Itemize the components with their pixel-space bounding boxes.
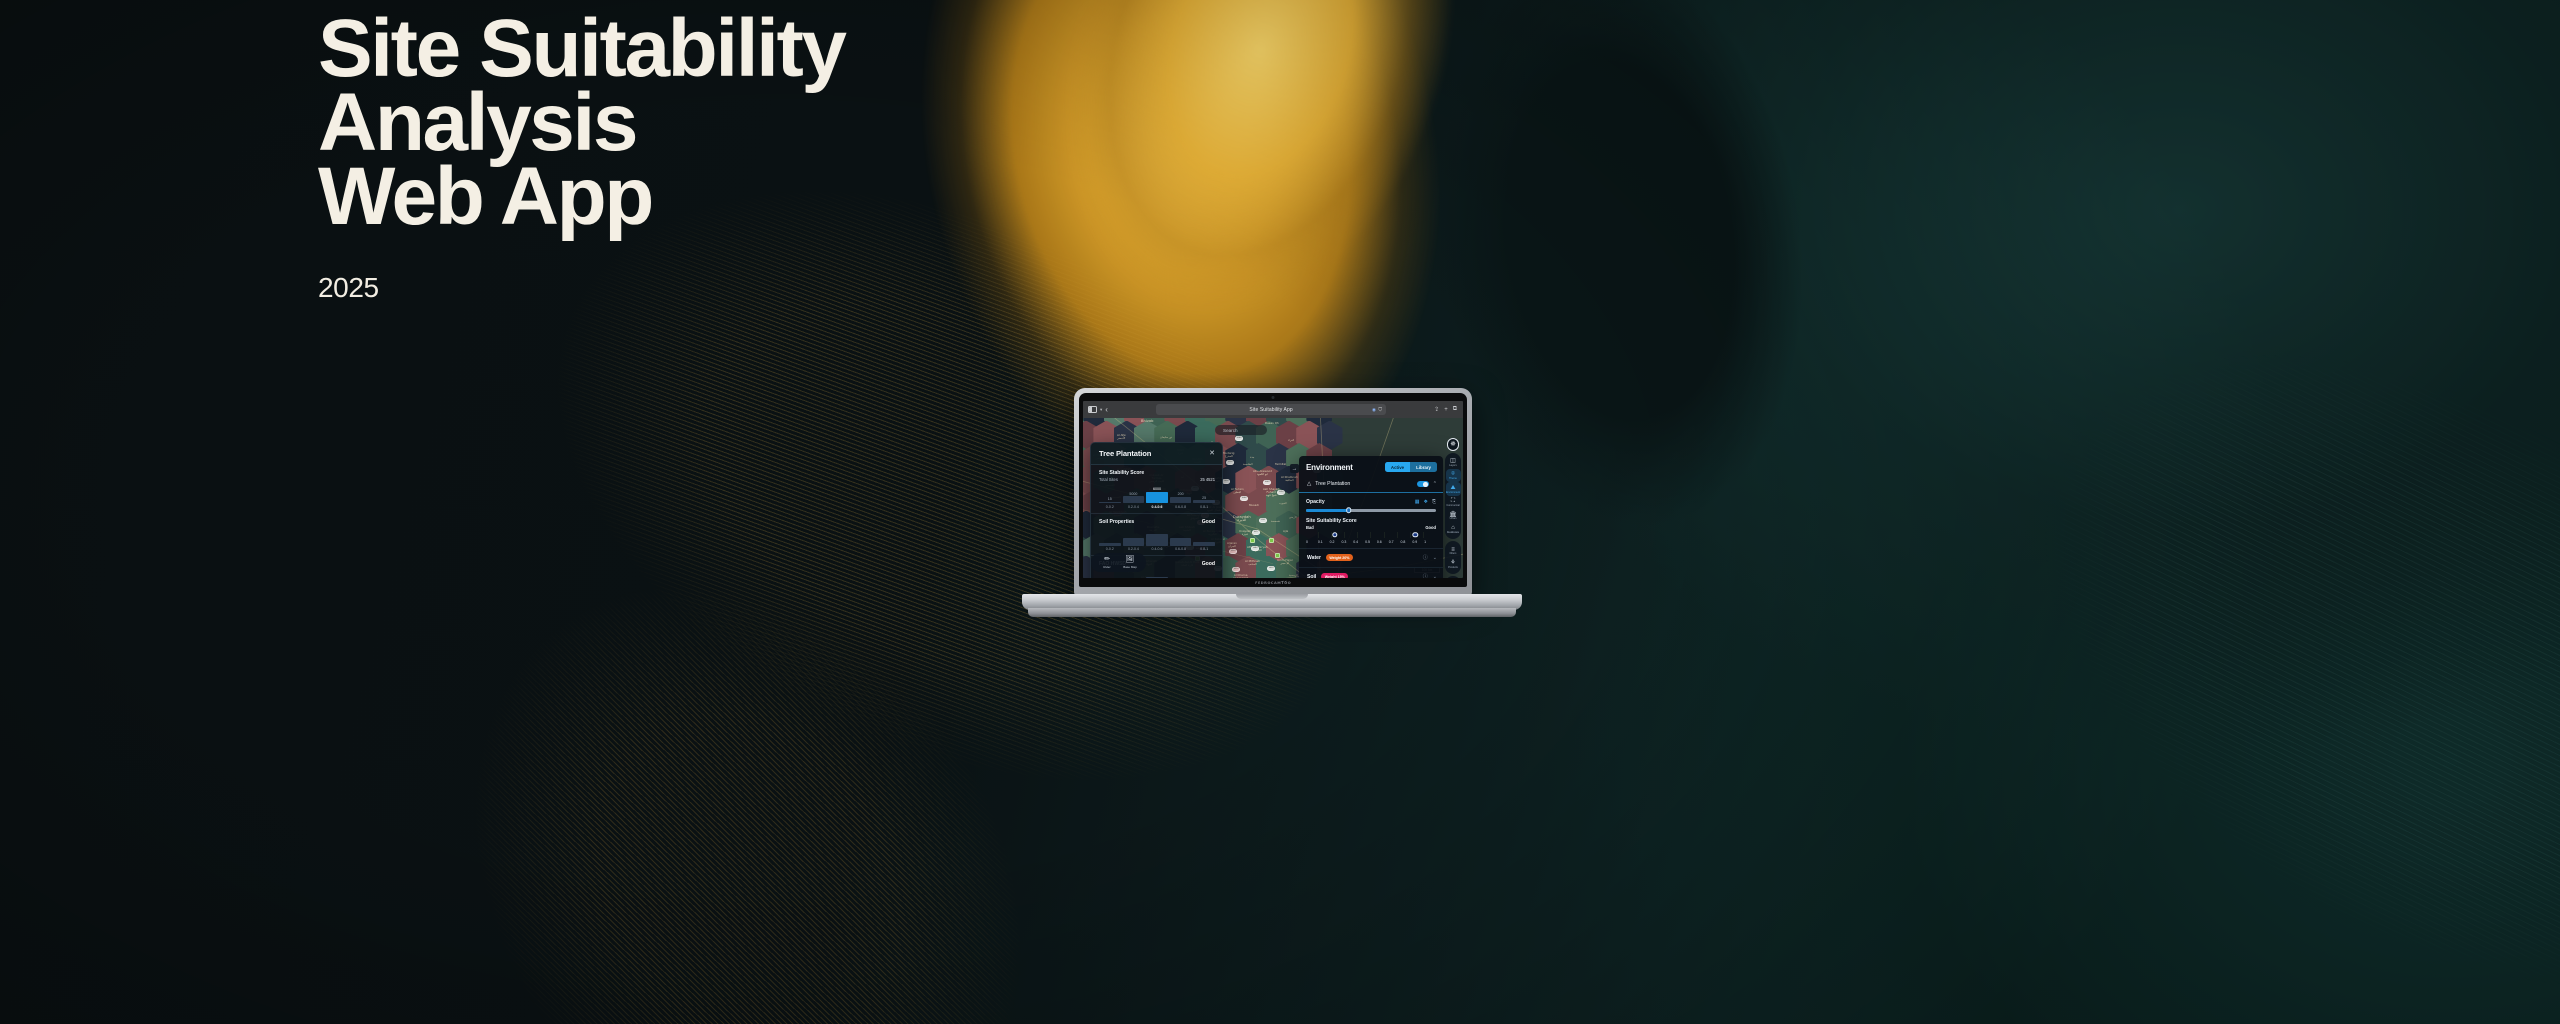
panel-header: Tree Plantation ✕ [1091, 443, 1222, 465]
map-value-pin[interactable]: 1045 [1263, 480, 1271, 485]
rail-item-environment[interactable]: ⛰Environment [1446, 482, 1461, 495]
browser-toolbar: ▾ ‹ Site Suitability App ◉ ⛉ ⇪ + ⧉ [1083, 401, 1463, 418]
layer-name: Tree Plantation [1315, 481, 1413, 487]
histogram-tick-label: 0.4-0.6 [1146, 505, 1168, 509]
histogram-ticks: 0-0.20.2-0.40.4-0.60.6-0.80.8-1 [1099, 505, 1215, 509]
browser-actions-group: ⇪ + ⧉ [1434, 406, 1458, 413]
chevron-down-icon[interactable]: ⌄ [1433, 555, 1437, 561]
rail-item-urban[interactable]: 🏛Urban [1446, 509, 1461, 522]
layer-controls: Opacity ▦ ❖ ⎘ Site [1299, 493, 1443, 548]
histogram-bar [1193, 500, 1215, 503]
histogram-column[interactable] [1193, 528, 1215, 546]
gradient-tick-label: 0.2 [1330, 540, 1342, 544]
layer-visibility-toggle[interactable] [1417, 481, 1429, 487]
histogram-column[interactable] [1170, 528, 1192, 546]
ruler-icon: ✏ [1104, 556, 1110, 564]
address-bar-icons: ◉ ⛉ [1372, 407, 1382, 413]
rail-item-label: Products [1448, 567, 1458, 570]
rail-item-products[interactable]: ⚘Products [1446, 558, 1461, 571]
section-name: Site Stability Score [1099, 470, 1144, 476]
gradient-tick-label: 0.1 [1318, 540, 1330, 544]
reader-mode-icon[interactable]: ◉ [1372, 407, 1376, 413]
rail-item-realestate[interactable]: ⌂RealEstate [1446, 523, 1461, 536]
map-value-pin[interactable] [1250, 538, 1255, 543]
histogram-bar [1170, 538, 1192, 545]
chart-icon[interactable]: ▦ [1415, 499, 1420, 505]
shield-icon[interactable]: ⛉ [1378, 407, 1382, 413]
gradient-tick-label: 0.5 [1365, 540, 1377, 544]
map-value-pin[interactable]: 1228 [1226, 460, 1234, 465]
section-subrow: Total Sites25 4521 [1099, 477, 1215, 482]
address-bar-title: Site Suitability App [1249, 407, 1292, 413]
tab-library[interactable]: Library [1410, 462, 1437, 472]
map-search-placeholder: Search [1223, 428, 1238, 433]
criteria-name: Water [1307, 555, 1321, 561]
criteria-row-water[interactable]: WaterWeight 20%ⓘ⌄ [1299, 549, 1443, 568]
gradient-tick-label: 0 [1306, 540, 1318, 544]
gradient-tick-label: 0.3 [1341, 540, 1353, 544]
new-tab-icon[interactable]: + [1444, 407, 1448, 413]
rail-item-layers[interactable]: ◫Layers [1446, 456, 1461, 469]
rail-item-label: Filters [1450, 553, 1457, 556]
histogram-value: 200 [1178, 492, 1184, 496]
histogram-tick-label: 0.6-0.8 [1170, 547, 1192, 551]
histogram-value: 5000 [1129, 492, 1137, 496]
gradient-tick-label: 1 [1424, 540, 1436, 544]
gradient-tick-label: 0.9 [1412, 540, 1424, 544]
section-name: Soil Properties [1099, 519, 1134, 525]
close-icon[interactable]: ✕ [1209, 450, 1215, 457]
panel-title: Tree Plantation [1099, 449, 1151, 458]
map-search-input[interactable]: Search [1215, 425, 1267, 435]
suitability-bad-label: Bad [1306, 525, 1314, 530]
map-value-pin[interactable] [1275, 553, 1280, 558]
histogram-column[interactable] [1123, 528, 1145, 546]
criteria-row-soil[interactable]: SoilWeight 15%ⓘ⌄ [1299, 568, 1443, 578]
histogram-bar [1193, 542, 1215, 546]
rail-group: ≡Filters⚘Products [1445, 541, 1461, 574]
histogram-ticks: 0-0.20.2-0.40.4-0.60.6-0.80.8-1 [1099, 547, 1215, 551]
info-icon[interactable]: ⓘ [1423, 573, 1428, 578]
map-canvas[interactable]: BhivabDasan QhAl Afwالأخضرنور سليمانالغر… [1083, 418, 1463, 578]
section-verdict: Good [1202, 561, 1215, 567]
rail-item-label: Environment [1446, 492, 1460, 495]
histogram-column[interactable]: 6000 [1146, 485, 1168, 503]
map-value-pin[interactable]: 1415 [1267, 566, 1275, 571]
rail-item-filters[interactable]: ≡Filters [1446, 544, 1461, 557]
gradient-tick-label: 0.4 [1353, 540, 1365, 544]
suitability-end-labels: Bad Good [1306, 525, 1436, 530]
gradient-tick-label: 0.8 [1401, 540, 1413, 544]
total-sites-value: 25 4521 [1200, 477, 1215, 482]
histogram-column[interactable]: 15 [1099, 485, 1121, 503]
tool-basemap-label: Base Map [1123, 565, 1137, 569]
info-icon[interactable]: ⓘ [1423, 554, 1428, 561]
tab-active[interactable]: Active [1385, 462, 1410, 472]
histogram-value: 25 [1202, 496, 1206, 500]
gradient-tick-label: 0.7 [1389, 540, 1401, 544]
section-verdict: Good [1202, 519, 1215, 525]
map-tools-bar[interactable]: ✏ Ruler 🖼 Base Map [1091, 553, 1146, 573]
histogram-bar [1146, 577, 1168, 578]
histogram-column[interactable] [1146, 570, 1168, 578]
map-value-pin[interactable]: 4285 [1235, 436, 1243, 441]
laptop-mockup: ꜰᴇᴅʀᴏᴄᴀᴍᴛ᷄ᴏ᷄ᴏ ▾ ‹ Site Suitability App ◉… [1022, 388, 1522, 632]
map-value-pin[interactable] [1269, 538, 1274, 543]
opacity-row: Opacity ▦ ❖ ⎘ [1306, 499, 1436, 505]
page-title: Site Suitability Analysis Web App [318, 12, 845, 234]
histogram-bar [1146, 492, 1168, 503]
rail-item-theme[interactable]: ⍟Theme [1446, 469, 1461, 482]
sidebar-icon [1088, 406, 1097, 413]
section-header: Soil PropertiesGood [1099, 519, 1215, 525]
sidebar-toggle-button[interactable] [1088, 406, 1097, 413]
analysis-section: Site Stability ScoreTotal Sites25 452115… [1091, 465, 1222, 514]
histogram-tick-label: 0.8-1 [1193, 547, 1215, 551]
gradient-tick-label: 0.6 [1377, 540, 1389, 544]
suitability-good-label: Good [1425, 525, 1436, 530]
histogram-tick-label: 0-0.2 [1099, 505, 1121, 509]
histogram-column[interactable] [1146, 528, 1168, 546]
histogram-column[interactable]: 200 [1170, 485, 1192, 503]
opacity-slider[interactable] [1306, 509, 1436, 511]
panel-collapse-button[interactable]: → [1290, 464, 1299, 473]
histogram-column[interactable]: 5000 [1123, 485, 1145, 503]
criteria-name: Soil [1307, 574, 1316, 578]
copy-icon[interactable]: ⎘ [1432, 499, 1436, 505]
chevron-up-icon[interactable]: ⌃ [1433, 482, 1437, 487]
opacity-slider-handle[interactable] [1346, 508, 1352, 514]
back-button[interactable]: ‹ [1105, 406, 1108, 414]
tool-ruler-label: Ruler [1103, 565, 1110, 569]
browser-nav-group: ▾ ‹ [1088, 406, 1108, 414]
histogram-tick-label: 0.2-0.4 [1123, 547, 1145, 551]
rail-item-label: Theme [1449, 478, 1457, 481]
histogram-value: 15 [1108, 497, 1112, 501]
histogram-tick-label: 0-0.2 [1099, 547, 1121, 551]
suitability-label: Site Suitability Score [1306, 518, 1436, 524]
tree-icon: △ [1307, 481, 1311, 487]
split-icon[interactable]: ❖ [1424, 499, 1428, 505]
chevron-down-icon[interactable]: ⌄ [1433, 574, 1437, 578]
weight-badge: Weight 15% [1321, 573, 1348, 578]
total-sites-label: Total Sites [1099, 477, 1118, 482]
rail-item-label: RealEstate [1447, 532, 1459, 535]
map-value-pin[interactable]: 1120 [1277, 490, 1285, 495]
suitability-tick-labels: 00.10.20.30.40.50.60.70.80.91 [1306, 540, 1436, 544]
histogram-value: 6000 [1153, 487, 1161, 491]
map-value-pin[interactable]: 2318 [1222, 479, 1230, 484]
histogram-bar [1123, 496, 1145, 503]
histogram-column[interactable]: 25 [1193, 485, 1215, 503]
tool-ruler[interactable]: ✏ Ruler [1097, 556, 1117, 569]
laptop-screen: ▾ ‹ Site Suitability App ◉ ⛉ ⇪ + ⧉ [1083, 401, 1463, 578]
active-library-toggle[interactable]: Active Library [1385, 462, 1437, 472]
histogram-column[interactable] [1170, 570, 1192, 578]
suitability-gradient-slider[interactable] [1306, 532, 1436, 538]
tool-basemap[interactable]: 🖼 Base Map [1120, 556, 1140, 569]
hero-year: 2025 [318, 272, 845, 304]
section-header: Site Stability Score [1099, 470, 1215, 476]
histogram-column[interactable] [1193, 570, 1215, 578]
map-value-pin[interactable]: 1270 [1232, 567, 1240, 572]
rail-groups: ◫Layers⍟Theme⛰Environment⛶Commercial🏛Urb… [1445, 453, 1461, 579]
basemap-icon: 🖼 [1126, 556, 1135, 564]
histogram-tick-label: 0.8-1 [1193, 505, 1215, 509]
tab-overview-icon[interactable]: ⧉ [1453, 406, 1457, 413]
histogram-bar [1123, 538, 1145, 546]
opacity-label: Opacity [1306, 499, 1325, 505]
map-value-pin[interactable]: 1077 [1252, 530, 1260, 535]
analysis-section: Soil PropertiesGood0-0.20.2-0.40.4-0.60.… [1091, 514, 1222, 557]
chevron-down-icon[interactable]: ▾ [1100, 407, 1102, 413]
app-nav-rail[interactable]: ✵ ◫Layers⍟Theme⛰Environment⛶Commercial🏛U… [1445, 438, 1461, 578]
map-value-pin[interactable]: 2231 [1259, 518, 1267, 523]
rail-group: 💬Chat☺Profile❔Help [1445, 576, 1461, 578]
environment-panel[interactable]: Environment Active Library △ Tree Planta… [1299, 456, 1443, 578]
environment-panel-header: Environment Active Library [1299, 456, 1443, 477]
hero-block: Site Suitability Analysis Web App 2025 [318, 12, 845, 304]
laptop-lid: ꜰᴇᴅʀᴏᴄᴀᴍᴛ᷄ᴏ᷄ᴏ ▾ ‹ Site Suitability App ◉… [1074, 388, 1472, 596]
bezel-brand-mark: ꜰᴇᴅʀᴏᴄᴀᴍᴛ᷄ᴏ᷄ᴏ [1255, 581, 1291, 586]
share-icon[interactable]: ⇪ [1434, 406, 1439, 413]
histogram-tick-label: 0.4-0.6 [1146, 547, 1168, 551]
histogram-bar [1146, 534, 1168, 545]
histogram-bar [1170, 497, 1192, 503]
address-bar[interactable]: Site Suitability App ◉ ⛉ [1156, 404, 1386, 415]
histogram-column[interactable] [1099, 528, 1121, 546]
histogram: 155000600020025 [1099, 485, 1215, 503]
webcam-icon [1272, 396, 1275, 399]
rail-item-label: Layers [1449, 465, 1457, 468]
criteria-categories: WaterWeight 20%ⓘ⌄SoilWeight 15%ⓘ⌄Climate… [1299, 549, 1443, 578]
rail-item-label: Commercial [1446, 505, 1459, 508]
environment-panel-title: Environment [1306, 463, 1353, 472]
histogram-tick-label: 0.6-0.8 [1170, 505, 1192, 509]
compass-logo-icon[interactable]: ✵ [1447, 438, 1460, 451]
laptop-bezel: ꜰᴇᴅʀᴏᴄᴀᴍᴛ᷄ᴏ᷄ᴏ ▾ ‹ Site Suitability App ◉… [1079, 393, 1467, 587]
histogram [1099, 528, 1215, 546]
histogram-bar [1099, 543, 1121, 546]
laptop-base-front [1028, 608, 1516, 617]
opacity-slider-fill [1306, 509, 1349, 511]
weight-badge: Weight 20% [1326, 554, 1353, 561]
layer-row-tree-plantation[interactable]: △ Tree Plantation ⌃ [1299, 477, 1443, 493]
rail-group: ◫Layers⍟Theme⛰Environment⛶Commercial🏛Urb… [1445, 453, 1461, 540]
map-value-pin[interactable]: 1480 [1251, 546, 1259, 551]
layer-action-icons: ▦ ❖ ⎘ [1415, 499, 1436, 505]
rail-item-label: Urban [1450, 518, 1457, 521]
map-value-pin[interactable]: 1219 [1229, 549, 1237, 554]
histogram-bar [1099, 502, 1121, 503]
histogram-tick-label: 0.2-0.4 [1123, 505, 1145, 509]
rail-item-commercial[interactable]: ⛶Commercial [1446, 496, 1461, 509]
map-value-pin[interactable]: 1088 [1240, 496, 1248, 501]
